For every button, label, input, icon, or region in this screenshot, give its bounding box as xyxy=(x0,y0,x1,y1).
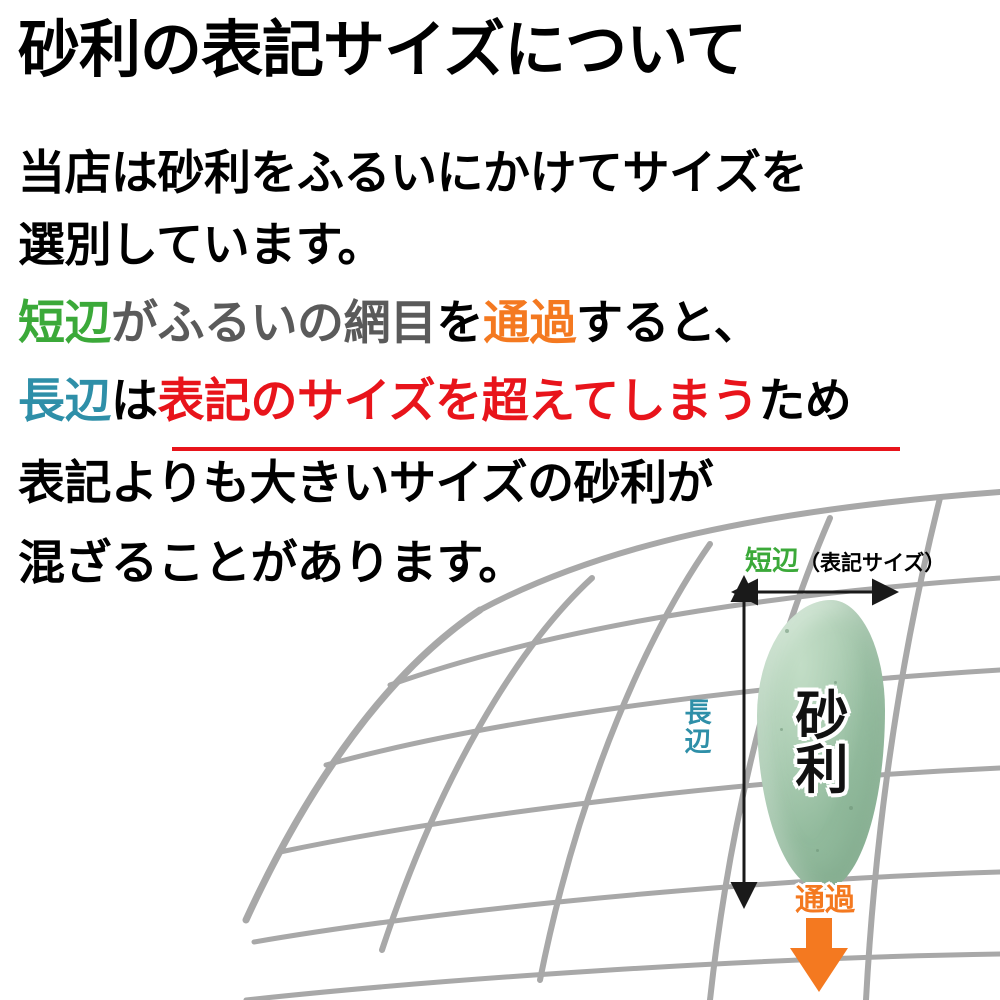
pass-through-label: 通過 xyxy=(770,886,880,916)
long-side-label-char-2: 辺 xyxy=(682,729,714,758)
measurement-arrows xyxy=(0,0,1000,1000)
infographic-canvas: 砂利の表記サイズについて 当店は砂利をふるいにかけてサイズを 選別しています。 … xyxy=(0,0,1000,1000)
pass-through-arrow xyxy=(790,918,848,992)
short-side-label-text: 短辺 xyxy=(745,546,799,577)
long-side-label-char-1: 長 xyxy=(682,700,714,729)
short-side-label: 短辺（表記サイズ） xyxy=(745,548,945,575)
long-side-label: 長 辺 xyxy=(682,700,714,757)
short-side-note: （表記サイズ） xyxy=(799,551,945,575)
